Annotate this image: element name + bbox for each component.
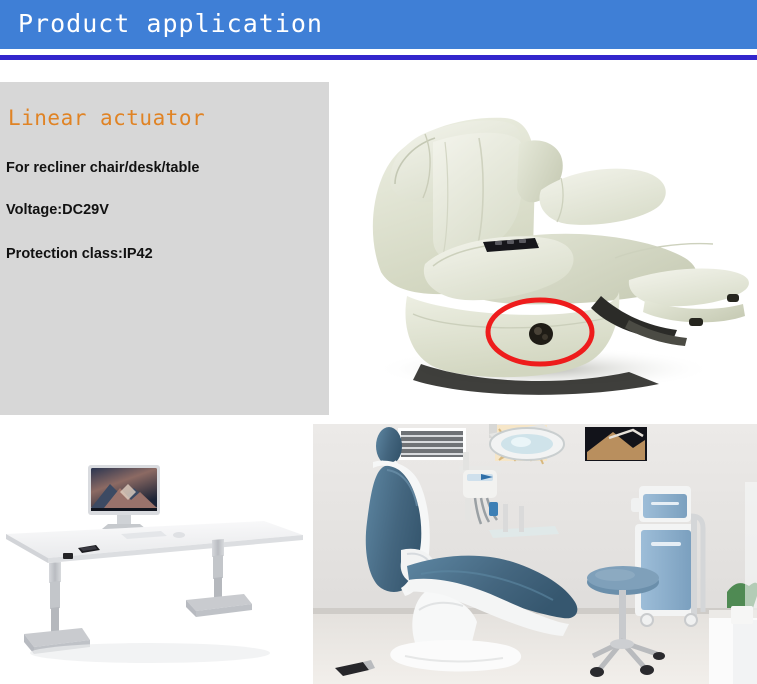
recliner-chair-photo <box>329 82 757 415</box>
header-divider <box>0 55 757 60</box>
spec-line-application: For recliner chair/desk/table <box>6 160 199 176</box>
spec-title: Linear actuator <box>8 106 205 130</box>
mouse-icon <box>173 532 185 538</box>
dental-clinic-photo <box>313 424 757 684</box>
page-title: Product application <box>18 9 323 39</box>
desk-control-switch <box>63 553 73 559</box>
spec-line-voltage: Voltage:DC29V <box>6 202 109 218</box>
product-application-page: Product application Linear actuator For … <box>0 0 757 684</box>
recliner-chair-illustration <box>329 82 757 415</box>
wall-art-right <box>585 427 647 461</box>
dental-clinic-illustration <box>313 424 757 684</box>
wall-art-left <box>398 428 466 460</box>
spec-panel: Linear actuator For recliner chair/desk/… <box>0 82 329 415</box>
standing-desk-illustration <box>0 418 312 684</box>
spec-line-protection-class: Protection class:IP42 <box>6 246 153 262</box>
height-adjustable-desk-photo <box>0 418 312 684</box>
